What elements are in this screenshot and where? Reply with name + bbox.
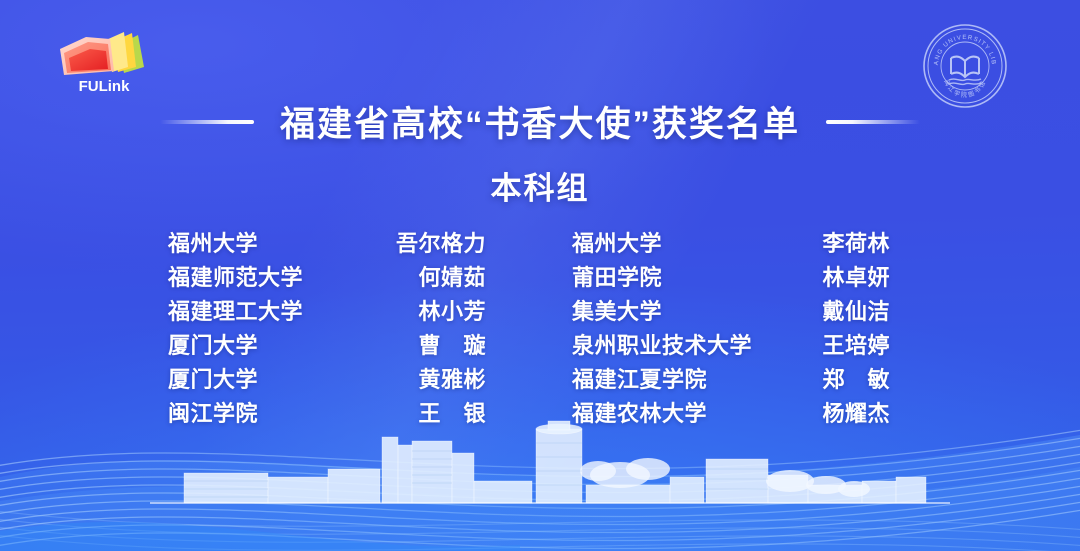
winner-school: 集美大学 bbox=[572, 294, 662, 326]
winner-school: 莆田学院 bbox=[572, 260, 662, 292]
winner-name: 吾尔格力 bbox=[396, 226, 486, 258]
winner-school: 福州大学 bbox=[572, 226, 662, 258]
winner-name: 王 银 bbox=[418, 396, 486, 428]
campus-skyline-illustration bbox=[150, 419, 950, 515]
winner-row: 厦门大学黄雅彬 bbox=[168, 362, 486, 396]
winner-name: 王培婷 bbox=[822, 328, 890, 360]
winner-name: 郑 敏 bbox=[822, 362, 890, 394]
winner-school: 厦门大学 bbox=[168, 328, 258, 360]
winner-school: 泉州职业技术大学 bbox=[572, 328, 752, 360]
winner-row: 闽江学院王 银 bbox=[168, 396, 486, 430]
winner-name: 曹 璇 bbox=[418, 328, 486, 360]
winner-school: 福建理工大学 bbox=[168, 294, 303, 326]
winner-name: 黄雅彬 bbox=[418, 362, 486, 394]
winners-column-1: 福州大学吾尔格力福建师范大学何婧茹福建理工大学林小芳厦门大学曹 璇厦门大学黄雅彬… bbox=[168, 226, 508, 430]
poster-canvas: FULink MINJIANG UNIVERSITY LIBRARY 闽江学院图… bbox=[0, 0, 1080, 551]
winner-row: 福建理工大学林小芳 bbox=[168, 294, 486, 328]
winner-row: 厦门大学曹 璇 bbox=[168, 328, 486, 362]
winner-name: 林卓妍 bbox=[822, 260, 890, 292]
winners-column-2: 福州大学李荷林莆田学院林卓妍集美大学戴仙洁泉州职业技术大学王培婷福建江夏学院郑 … bbox=[572, 226, 912, 430]
page-title: 福建省高校“书香大使”获奖名单 bbox=[280, 96, 800, 147]
winner-name: 何婧茹 bbox=[418, 260, 486, 292]
title-row: 福建省高校“书香大使”获奖名单 bbox=[0, 96, 1080, 147]
seal-outer-text: MINJIANG UNIVERSITY LIBRARY bbox=[921, 22, 997, 66]
winner-row: 福建江夏学院郑 敏 bbox=[572, 362, 890, 396]
winner-school: 闽江学院 bbox=[168, 396, 258, 428]
winner-name: 李荷林 bbox=[822, 226, 890, 258]
winner-school: 福州大学 bbox=[168, 226, 258, 258]
title-dash-left-icon bbox=[160, 120, 254, 124]
winner-school: 福建农林大学 bbox=[572, 396, 707, 428]
winner-name: 杨耀杰 bbox=[822, 396, 890, 428]
winner-row: 福州大学李荷林 bbox=[572, 226, 890, 260]
winner-row: 福建农林大学杨耀杰 bbox=[572, 396, 890, 430]
title-dash-right-icon bbox=[826, 120, 920, 124]
winner-school: 福建师范大学 bbox=[168, 260, 303, 292]
fulink-wordmark: FULink bbox=[79, 78, 130, 95]
winner-row: 福建师范大学何婧茹 bbox=[168, 260, 486, 294]
page-subtitle: 本科组 bbox=[0, 163, 1080, 208]
winner-name: 戴仙洁 bbox=[822, 294, 890, 326]
winner-row: 福州大学吾尔格力 bbox=[168, 226, 486, 260]
winner-row: 泉州职业技术大学王培婷 bbox=[572, 328, 890, 362]
winner-row: 集美大学戴仙洁 bbox=[572, 294, 890, 328]
winner-row: 莆田学院林卓妍 bbox=[572, 260, 890, 294]
fulink-logo[interactable]: FULink bbox=[52, 27, 156, 99]
winner-school: 厦门大学 bbox=[168, 362, 258, 394]
winner-name: 林小芳 bbox=[418, 294, 486, 326]
winner-school: 福建江夏学院 bbox=[572, 362, 707, 394]
winners-list: 福州大学吾尔格力福建师范大学何婧茹福建理工大学林小芳厦门大学曹 璇厦门大学黄雅彬… bbox=[168, 226, 912, 430]
